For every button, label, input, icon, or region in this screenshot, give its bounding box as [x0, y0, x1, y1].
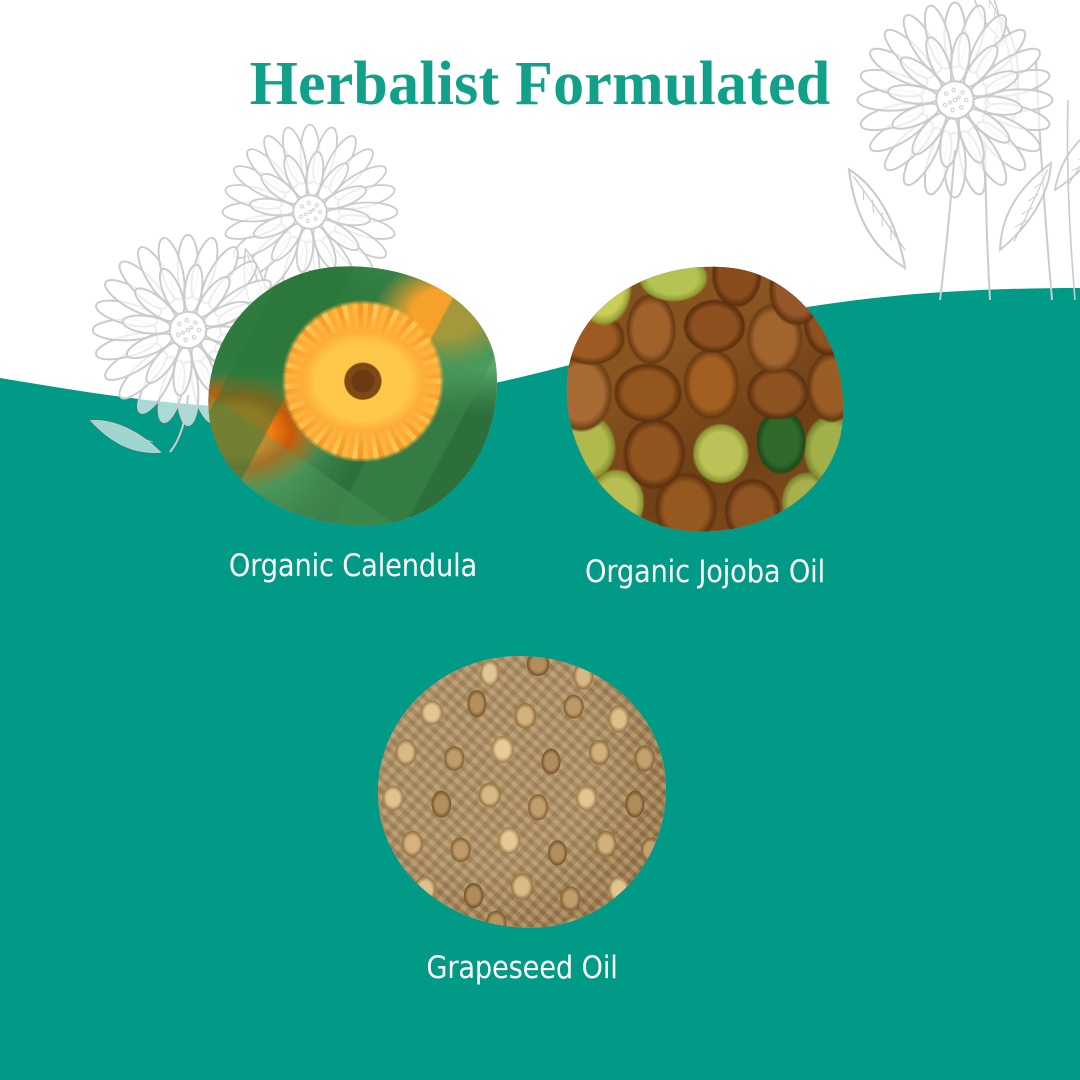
jojoba-image: [555, 254, 855, 543]
ingredient-jojoba[interactable]: Organic Jojoba Oil: [566, 266, 844, 590]
promo-graphic-canvas: Herbalist Formulated Organic Calendula O…: [0, 0, 1080, 1080]
ingredient-label-calendula: Organic Calendula: [225, 548, 480, 584]
ingredient-calendula[interactable]: Organic Calendula: [208, 266, 498, 584]
ingredient-grapeseed[interactable]: Grapeseed Oil: [378, 656, 666, 986]
grapeseed-texture: [373, 651, 670, 933]
calendula-flower-texture: [199, 256, 506, 536]
ingredient-label-grapeseed: Grapeseed Oil: [395, 950, 648, 986]
jojoba-nuts-texture: [555, 254, 855, 543]
page-title: Herbalist Formulated: [0, 52, 1080, 117]
calendula-image: [199, 256, 506, 536]
ingredient-label-jojoba: Organic Jojoba Oil: [583, 554, 828, 590]
grapeseed-image: [373, 651, 670, 933]
